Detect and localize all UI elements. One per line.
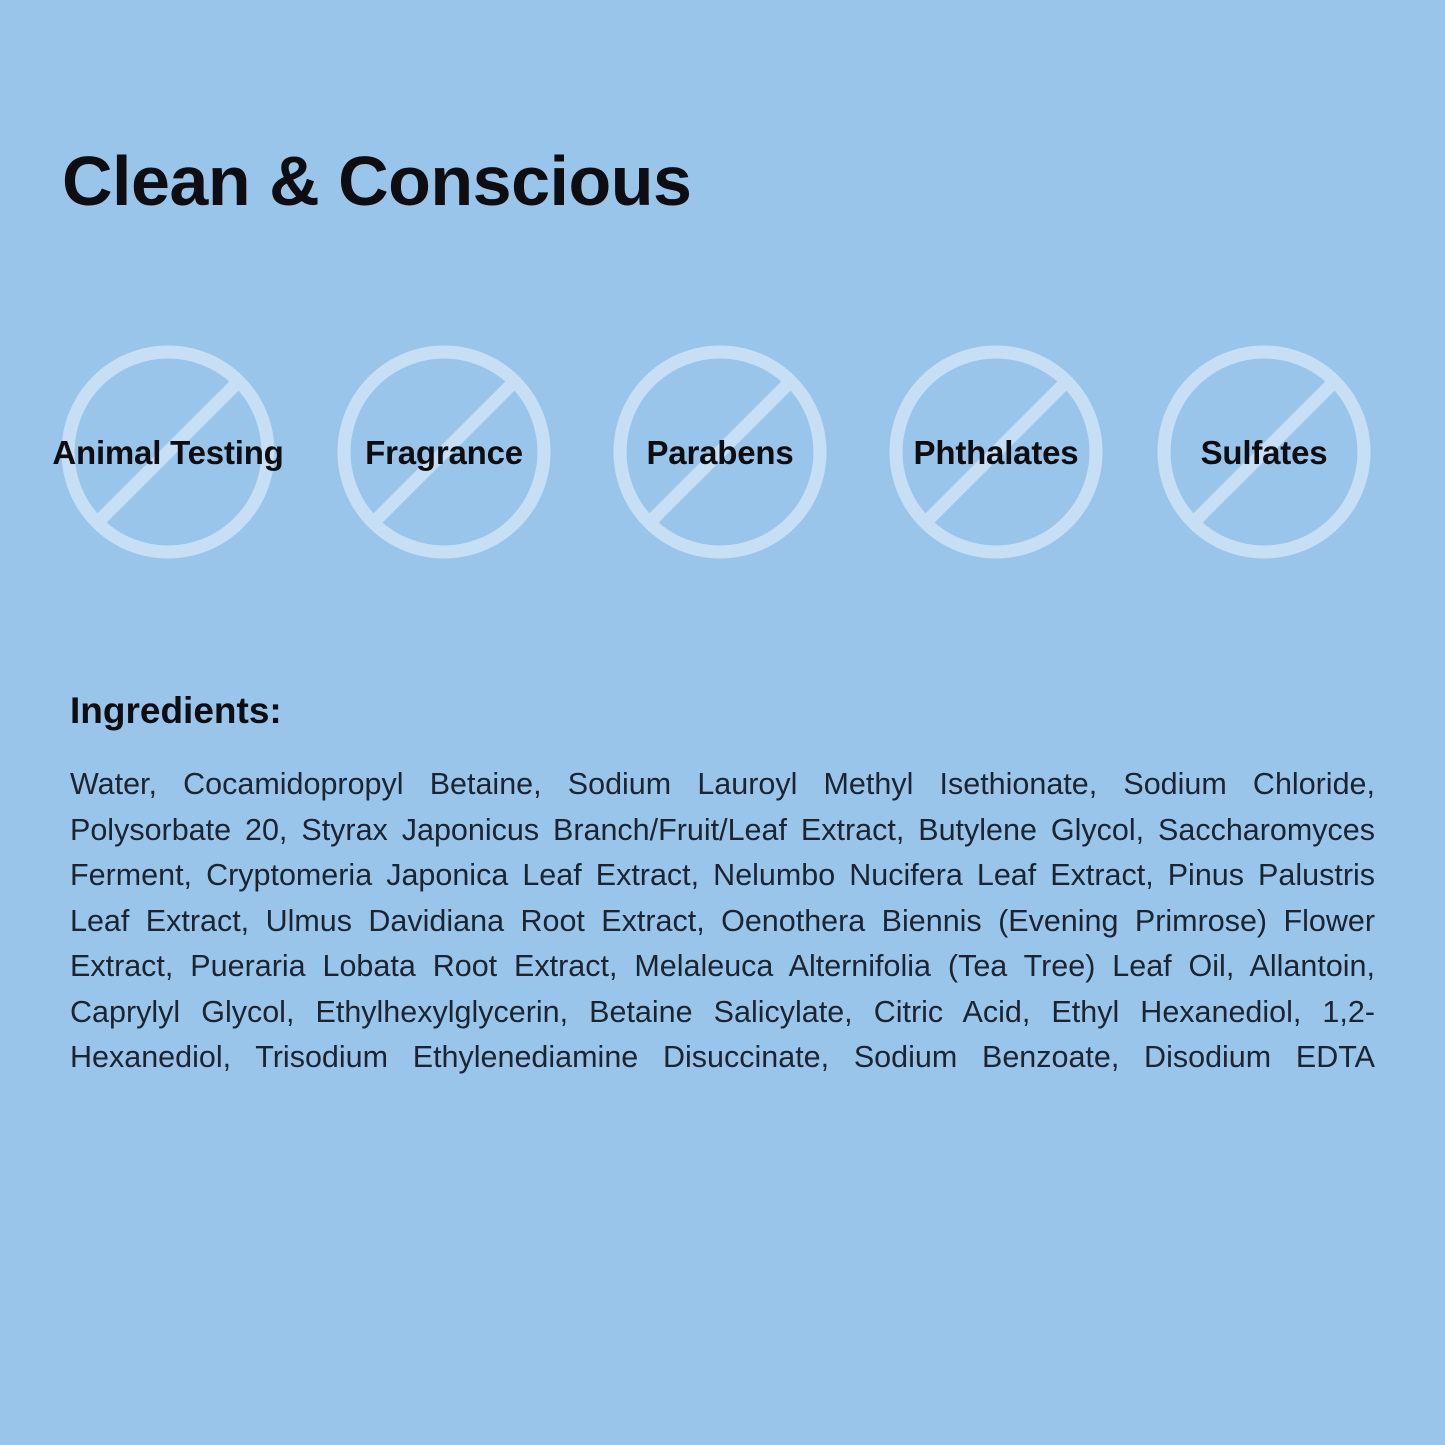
badge-phthalates: Phthalates [889, 345, 1103, 559]
badge-fragrance: Fragrance [337, 345, 551, 559]
free-from-badge-row: Animal Testing Fragrance Parabens Phthal… [0, 345, 1445, 560]
badge-sulfates: Sulfates [1157, 345, 1371, 559]
clean-conscious-panel: Clean & Conscious Animal Testing Fragran… [0, 0, 1445, 1445]
page-title: Clean & Conscious [62, 140, 691, 222]
badge-label: Sulfates [1102, 345, 1426, 559]
badge-parabens: Parabens [613, 345, 827, 559]
ingredients-heading: Ingredients: [70, 688, 282, 734]
ingredients-list: Water, Cocamidopropyl Betaine, Sodium La… [70, 762, 1375, 1126]
badge-animal-testing: Animal Testing [61, 345, 275, 559]
